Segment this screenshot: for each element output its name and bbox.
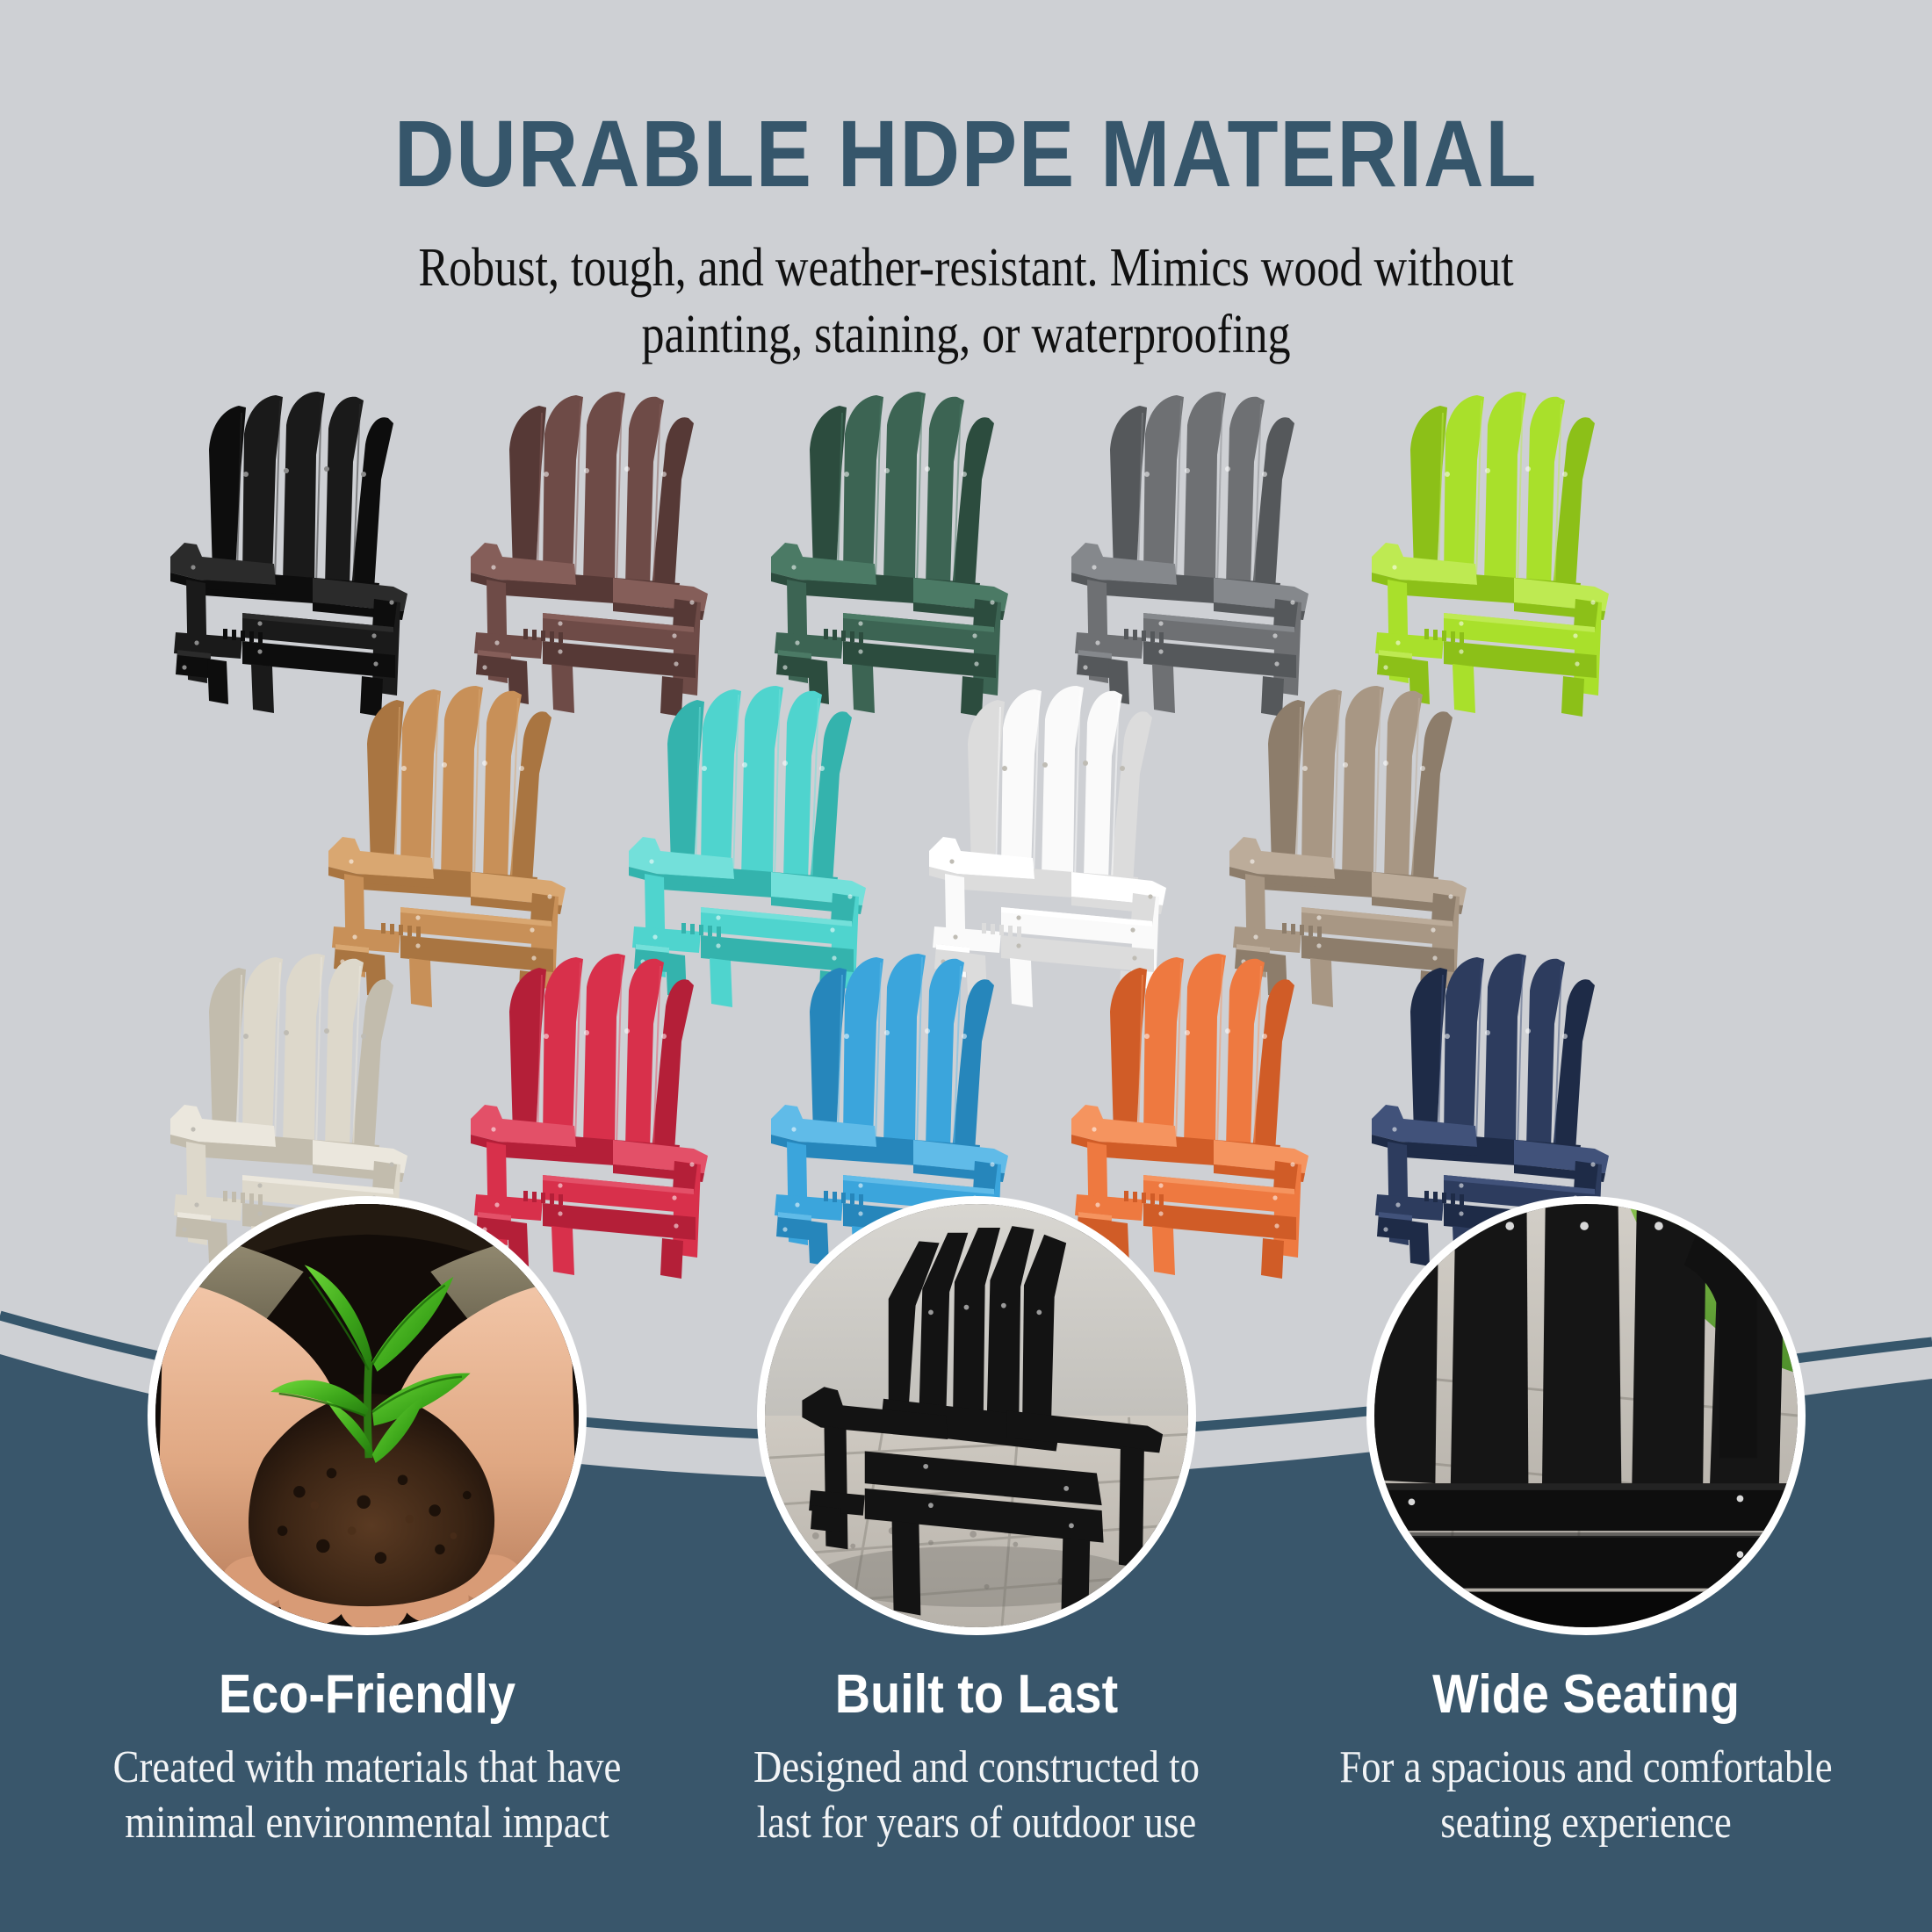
page-title: DURABLE HDPE MATERIAL xyxy=(116,98,1816,208)
hands-holding-seedling-photo xyxy=(155,1204,579,1627)
feature-photo-built-to-last xyxy=(757,1196,1196,1635)
subtitle-line-2: painting, staining, or waterproofing xyxy=(155,302,1777,369)
feature-desc-line-2: seating experience xyxy=(1322,1795,1850,1850)
page-subtitle: Robust, tough, and weather-resistant. Mi… xyxy=(155,235,1777,368)
black-chair-on-patio-photo xyxy=(765,1204,1188,1627)
feature-photo-eco-friendly xyxy=(148,1196,587,1635)
feature-desc-line-1: For a spacious and comfortable xyxy=(1322,1740,1850,1795)
feature-desc-line-2: minimal environmental impact xyxy=(103,1795,631,1850)
feature-description: For a spacious and comfortable seating e… xyxy=(1322,1740,1850,1851)
feature-block-wide-seating: Wide Seating For a spacious and comforta… xyxy=(1279,1663,1893,1851)
feature-heading: Wide Seating xyxy=(1309,1663,1863,1726)
feature-heading: Built to Last xyxy=(700,1663,1253,1726)
infographic-canvas: DURABLE HDPE MATERIAL Robust, tough, and… xyxy=(0,0,1932,1932)
subtitle-line-1: Robust, tough, and weather-resistant. Mi… xyxy=(155,235,1777,302)
feature-description: Designed and constructed to last for yea… xyxy=(712,1740,1241,1851)
chair-seat-closeup-photo xyxy=(1374,1204,1798,1627)
feature-desc-line-1: Designed and constructed to xyxy=(712,1740,1241,1795)
feature-block-built-to-last: Built to Last Designed and constructed t… xyxy=(669,1663,1284,1851)
feature-block-eco-friendly: Eco-Friendly Created with materials that… xyxy=(60,1663,674,1851)
feature-heading: Eco-Friendly xyxy=(90,1663,644,1726)
feature-description: Created with materials that have minimal… xyxy=(103,1740,631,1851)
feature-desc-line-1: Created with materials that have xyxy=(103,1740,631,1795)
feature-photo-wide-seating xyxy=(1366,1196,1806,1635)
feature-desc-line-2: last for years of outdoor use xyxy=(712,1795,1241,1850)
